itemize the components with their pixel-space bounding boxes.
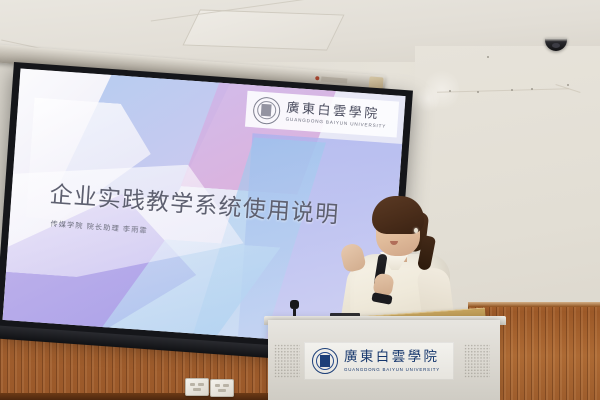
- wall-fixture-dot: [567, 84, 569, 86]
- podium: 廣東白雲學院 GUANGDONG BAIYUN UNIVERSITY: [268, 320, 500, 400]
- housing-indicator-led: [315, 76, 319, 80]
- podium-speaker-grille: [274, 344, 300, 378]
- wainscot-cap-right: [468, 302, 600, 307]
- podium-speaker-grille: [464, 344, 490, 378]
- wall-fixture-dot: [531, 88, 533, 90]
- podium-university-plate: 廣東白雲學院 GUANGDONG BAIYUN UNIVERSITY: [304, 342, 454, 380]
- wall-outlet[interactable]: [210, 379, 234, 397]
- wall-patch: [417, 84, 439, 114]
- camera-lens: [552, 43, 560, 48]
- wall-fixture-dot: [477, 91, 479, 93]
- wall-fixture-dot: [487, 56, 489, 58]
- presenter-earring: [414, 228, 418, 233]
- wall-outlet[interactable]: [185, 378, 209, 396]
- ceiling-access-panel: [182, 9, 344, 50]
- plate-english-text: GUANGDONG BAIYUN UNIVERSITY: [344, 367, 440, 372]
- wall-fixture-dot: [511, 89, 513, 91]
- lecture-hall-photo: 廣東白雲學院 GUANGDONG BAIYUN UNIVERSITY 企业实践教…: [0, 0, 600, 400]
- university-crest-icon: [252, 96, 281, 125]
- plate-chinese-text: 廣東白雲學院: [344, 351, 440, 365]
- university-crest-icon: [312, 348, 338, 374]
- wall-fixture-dot: [449, 90, 451, 92]
- housing-label: [321, 77, 347, 84]
